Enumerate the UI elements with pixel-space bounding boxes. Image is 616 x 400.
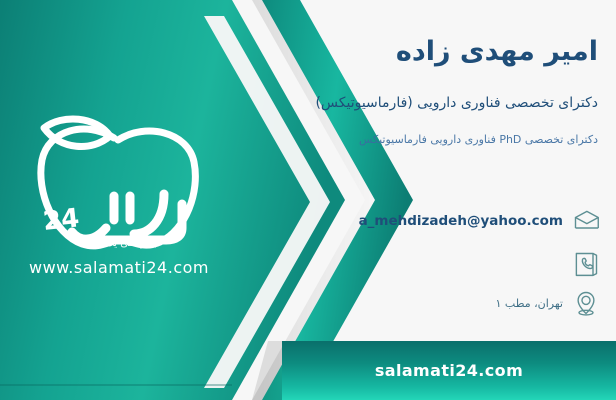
contact-row-email[interactable]: a_mehdizadeh@yahoo.com xyxy=(359,206,600,236)
contact-row-phone[interactable] xyxy=(563,249,600,279)
footer-bar: salamati24.com xyxy=(282,341,616,400)
contact-row-address[interactable]: تهران، مطب ۱ xyxy=(495,288,600,318)
person-name: امیر مهدی زاده xyxy=(396,36,598,67)
phone-book-icon xyxy=(572,249,600,279)
envelope-icon xyxy=(572,206,600,236)
logo-badge-24: 24 xyxy=(42,203,81,237)
business-card: 24 به راحتی یک لبخند www.salamati24.com … xyxy=(0,0,616,400)
apple-salamati-logo-mark: 24 xyxy=(14,108,224,258)
person-title: دکترای تخصصی فناوری دارویی (فارماسیوتیکس… xyxy=(315,95,598,111)
logo-tagline: به راحتی یک لبخند xyxy=(14,238,224,249)
map-pin-icon xyxy=(572,288,600,318)
person-title-secondary: دکترای تخصصی PhD فناوری دارویی فارماسیوت… xyxy=(359,133,598,146)
logo-website: www.salamati24.com xyxy=(14,258,224,277)
email-text: a_mehdizadeh@yahoo.com xyxy=(359,213,563,229)
company-logo: 24 به راحتی یک لبخند www.salamati24.com xyxy=(14,108,224,298)
address-text: تهران، مطب ۱ xyxy=(495,297,563,310)
svg-text:24: 24 xyxy=(42,203,81,237)
footer-website[interactable]: salamati24.com xyxy=(375,361,523,380)
